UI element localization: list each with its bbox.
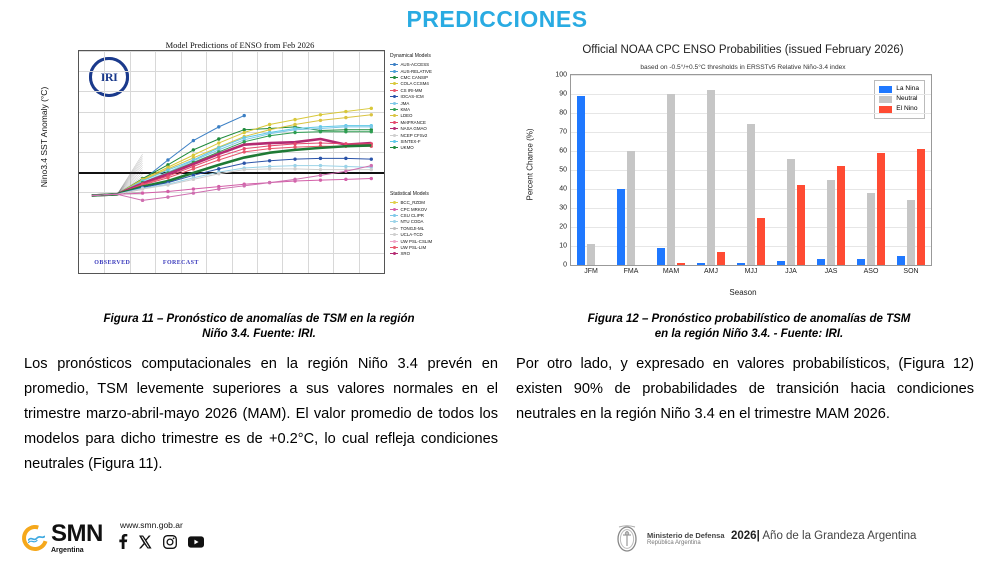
iri-legend-item[interactable]: UKMO (390, 145, 486, 151)
social-links (118, 534, 204, 549)
iri-series-marker (319, 130, 322, 133)
page-title: PREDICCIONES (0, 6, 994, 33)
iri-series-marker (243, 150, 246, 153)
iri-series-layer (79, 51, 384, 273)
cpc-bar (857, 259, 865, 265)
legend-marker-icon (390, 82, 398, 86)
iri-series-marker (243, 184, 246, 187)
legend-marker-icon (390, 207, 398, 211)
legend-swatch-icon (879, 86, 892, 93)
cpc-legend-item[interactable]: La Nina (879, 84, 919, 94)
iri-series-marker (293, 145, 296, 148)
cpc-bar (657, 248, 665, 265)
cpc-y-tick: 60 (559, 148, 567, 155)
cpc-y-tick: 80 (559, 110, 567, 117)
iri-series-marker (319, 127, 322, 130)
figure-12-caption-line1: Figura 12 – Pronóstico probabilístico de… (514, 312, 984, 327)
iri-series-marker (243, 114, 246, 117)
cpc-y-axis-label: Percent Chance (%) (526, 85, 535, 245)
iri-plume-chart: Model Predictions of ENSO from Feb 2026 … (30, 40, 488, 302)
iri-series-marker (268, 159, 271, 162)
figure-11-caption-line1: Figura 11 – Pronóstico de anomalías de T… (22, 312, 496, 327)
iri-series-marker (319, 164, 322, 167)
cpc-bar (697, 263, 705, 265)
cpc-chart-title: Official NOAA CPC ENSO Probabilities (is… (508, 44, 978, 56)
cpc-bar (707, 90, 715, 265)
iri-series-marker (243, 147, 246, 150)
legend-marker-icon (390, 114, 398, 118)
body-paragraph-left: Los pronósticos computacionales en la re… (24, 352, 498, 477)
cpc-y-tick: 100 (555, 72, 567, 79)
iri-series-marker (344, 110, 347, 113)
ministry-line-1: Ministerio de Defensa (647, 531, 725, 540)
legend-marker-icon (390, 201, 398, 205)
iri-series-marker (293, 118, 296, 121)
x-twitter-icon[interactable] (139, 535, 152, 549)
iri-series-marker (217, 155, 220, 158)
iri-series-marker (344, 116, 347, 119)
year-label: 2026| (731, 530, 760, 542)
iri-series-marker (217, 167, 220, 170)
legend-marker-icon (390, 146, 398, 150)
legend-marker-icon (390, 95, 398, 99)
iri-series-marker (344, 165, 347, 168)
iri-series-marker (166, 190, 169, 193)
cpc-bar (577, 96, 585, 265)
cpc-bar (587, 244, 595, 265)
facebook-icon[interactable] (118, 534, 128, 549)
cpc-bar (737, 263, 745, 265)
cpc-x-tick: MAM (663, 268, 679, 275)
iri-series-marker (319, 119, 322, 122)
figure-12: Official NOAA CPC ENSO Probabilities (is… (508, 40, 988, 302)
iri-series-marker (268, 167, 271, 170)
iri-series-marker (268, 134, 271, 137)
iri-series-marker (217, 172, 220, 175)
cpc-bar (827, 180, 835, 266)
cpc-y-tick: 40 (559, 186, 567, 193)
left-column: Model Predictions of ENSO from Feb 2026 … (16, 40, 502, 302)
cpc-y-tick: 20 (559, 224, 567, 231)
iri-series-marker (141, 191, 144, 194)
legend-marker-icon (390, 239, 398, 243)
argentina-shield-icon (614, 524, 640, 554)
cpc-y-tick: 10 (559, 243, 567, 250)
cpc-legend-item[interactable]: Neutral (879, 94, 919, 104)
cpc-bar (627, 151, 635, 265)
year-slogan: 2026| Año de la Grandeza Argentina (731, 530, 916, 542)
cpc-bar (867, 193, 875, 265)
iri-series-marker (370, 130, 373, 133)
cpc-y-tick: 0 (563, 262, 567, 269)
cpc-x-tick: JJA (785, 268, 797, 275)
smn-brand-sub: Argentina (51, 547, 103, 554)
cpc-y-tick: 30 (559, 205, 567, 212)
cpc-bar (877, 153, 885, 265)
iri-series-marker (344, 157, 347, 160)
iri-plot-area: IRI 3.02.52.01.51.00.50.0-0.5-1.0-1.5-2.… (78, 50, 385, 274)
forecast-label: FORECAST (163, 260, 199, 266)
iri-series-marker (370, 164, 373, 167)
iri-series-marker (192, 167, 195, 170)
cpc-bar (677, 263, 685, 265)
cpc-x-tick: AMJ (704, 268, 718, 275)
iri-series-marker (293, 167, 296, 170)
iri-series-marker (192, 187, 195, 190)
right-column: Official NOAA CPC ENSO Probabilities (is… (508, 40, 988, 302)
grid-line (571, 94, 931, 95)
cpc-bar (917, 149, 925, 265)
legend-marker-icon (390, 127, 398, 131)
iri-series-marker (141, 199, 144, 202)
iri-series-marker (319, 141, 322, 144)
cpc-x-tick: FMA (624, 268, 639, 275)
legend-marker-icon (390, 63, 398, 67)
smn-website[interactable]: www.smn.gob.ar (120, 520, 183, 530)
iri-series-marker (141, 187, 144, 190)
cpc-x-axis-label: Season (508, 288, 978, 297)
body-paragraph-right: Por otro lado, y expresado en valores pr… (516, 352, 974, 427)
cpc-x-tick: MJJ (745, 268, 758, 275)
cpc-bar (797, 185, 805, 265)
legend-marker-icon (390, 133, 398, 137)
iri-series-marker (370, 107, 373, 110)
cpc-x-tick: SON (903, 268, 918, 275)
iri-series-marker (166, 195, 169, 198)
iri-series-marker (243, 168, 246, 171)
iri-series-marker (217, 125, 220, 128)
youtube-icon[interactable] (188, 536, 204, 548)
iri-series-marker (293, 142, 296, 145)
iri-series-marker (319, 174, 322, 177)
ministry-line-2: República Argentina (647, 540, 725, 548)
iri-legend-item-label: UKMO (401, 144, 414, 151)
iri-series-marker (344, 130, 347, 133)
iri-y-axis-label: Nino3.4 SST Anomaly (°C) (39, 37, 49, 237)
iri-series-marker (243, 162, 246, 165)
cpc-bar (717, 252, 725, 265)
iri-series-marker (370, 168, 373, 171)
iri-chart-title: Model Predictions of ENSO from Feb 2026 (90, 40, 390, 50)
grid-line (79, 273, 384, 274)
cpc-legend-item-label: Neutral (896, 94, 917, 104)
legend-marker-icon (390, 88, 398, 92)
smn-brand-name: SMN (51, 522, 103, 546)
iri-series-marker (344, 170, 347, 173)
iri-series-marker (192, 139, 195, 142)
iri-series-marker (217, 141, 220, 144)
cpc-y-tick: 50 (559, 167, 567, 174)
iri-series-marker (243, 140, 246, 143)
cpc-bar (747, 124, 755, 265)
figure-12-caption: Figura 12 – Pronóstico probabilístico de… (514, 312, 984, 343)
iri-series-marker (319, 113, 322, 116)
legend-marker-icon (390, 101, 398, 105)
iri-series-marker (370, 113, 373, 116)
iri-series-marker (370, 157, 373, 160)
cpc-x-tick: JFM (584, 268, 598, 275)
cpc-x-tick: JAS (825, 268, 838, 275)
iri-series-marker (293, 178, 296, 181)
cpc-bar (667, 94, 675, 265)
cpc-bar (837, 166, 845, 265)
slogan-label: Año de la Grandeza Argentina (762, 530, 916, 542)
iri-series-marker (166, 183, 169, 186)
grid-line (571, 75, 931, 76)
cpc-legend-item-label: La Nina (896, 84, 919, 94)
iri-legend-dynamical-title: Dynamical Models (390, 52, 486, 60)
smn-wave-icon (28, 534, 45, 543)
iri-series-marker (319, 168, 322, 171)
cpc-bar (817, 259, 825, 265)
iri-series-marker (293, 123, 296, 126)
ministry-logo: Ministerio de Defensa República Argentin… (614, 524, 725, 554)
cpc-bar (907, 200, 915, 265)
cpc-plot-area: La NinaNeutralEl Nino 010203040506070809… (570, 74, 932, 266)
cpc-chart-subtitle: based on -0.5°/+0.5°C thresholds in ERSS… (508, 64, 978, 71)
observed-label: OBSERVED (94, 260, 130, 266)
legend-marker-icon (390, 69, 398, 73)
iri-series-marker (166, 158, 169, 161)
legend-marker-icon (390, 76, 398, 80)
iri-series-marker (217, 137, 220, 140)
grid-line (571, 113, 931, 114)
iri-series-marker (319, 157, 322, 160)
instagram-icon[interactable] (163, 535, 177, 549)
iri-series-marker (293, 164, 296, 167)
legend-marker-icon (390, 233, 398, 237)
iri-series-marker (268, 181, 271, 184)
iri-legend-statistical-title: Statistical Models (390, 190, 486, 198)
figure-11-caption-line2: Niño 3.4. Fuente: IRI. (22, 327, 496, 342)
iri-series-marker (217, 187, 220, 190)
iri-series-marker (217, 158, 220, 161)
legend-marker-icon (390, 252, 398, 256)
legend-marker-icon (390, 214, 398, 218)
cpc-bar (757, 218, 765, 266)
smn-mark-icon (22, 525, 48, 551)
cpc-bar (777, 261, 785, 265)
cpc-bar (617, 189, 625, 265)
iri-series-marker (268, 147, 271, 150)
iri-series-marker (268, 123, 271, 126)
footer: SMN Argentina www.smn.gob.ar (0, 512, 994, 567)
cpc-y-tick: 70 (559, 129, 567, 136)
iri-legend-dynamical: Dynamical Models AUS-ACCESSAUS-RELATIVEC… (390, 52, 486, 151)
figure-11-caption: Figura 11 – Pronóstico de anomalías de T… (22, 312, 496, 343)
cpc-bar (897, 256, 905, 266)
iri-series-marker (243, 131, 246, 134)
legend-marker-icon (390, 139, 398, 143)
cpc-bar (787, 159, 795, 265)
figure-11: Model Predictions of ENSO from Feb 2026 … (16, 40, 502, 302)
legend-swatch-icon (879, 96, 892, 103)
figure-12-caption-line2: en la región Niño 3.4. - Fuente: IRI. (514, 327, 984, 342)
legend-marker-icon (390, 120, 398, 124)
iri-series-marker (293, 131, 296, 134)
iri-series-marker (370, 177, 373, 180)
legend-marker-icon (390, 220, 398, 224)
iri-series-marker (344, 178, 347, 181)
iri-series-marker (344, 125, 347, 128)
iri-series-line (92, 169, 372, 196)
legend-marker-icon (390, 246, 398, 250)
legend-marker-icon (390, 226, 398, 230)
iri-series-marker (319, 178, 322, 181)
legend-swatch-icon (879, 106, 892, 113)
iri-series-marker (370, 125, 373, 128)
cpc-probability-chart: Official NOAA CPC ENSO Probabilities (is… (508, 40, 978, 302)
iri-legend-statistical: Statistical Models BCC_RZDMCPC MRKOVCSU … (390, 190, 486, 257)
legend-marker-icon (390, 108, 398, 112)
iri-legend-item-label: XRO (401, 250, 411, 257)
iri-series-marker (192, 178, 195, 181)
iri-series-marker (293, 157, 296, 160)
iri-series-marker (192, 148, 195, 151)
cpc-y-tick: 90 (559, 91, 567, 98)
cpc-x-tick: ASO (864, 268, 879, 275)
slide-root: PREDICCIONES Model Predictions of ENSO f… (0, 0, 994, 567)
iri-series-marker (192, 191, 195, 194)
iri-series-marker (166, 176, 169, 179)
iri-legend-item[interactable]: XRO (390, 251, 486, 257)
smn-logo: SMN Argentina (22, 522, 103, 554)
